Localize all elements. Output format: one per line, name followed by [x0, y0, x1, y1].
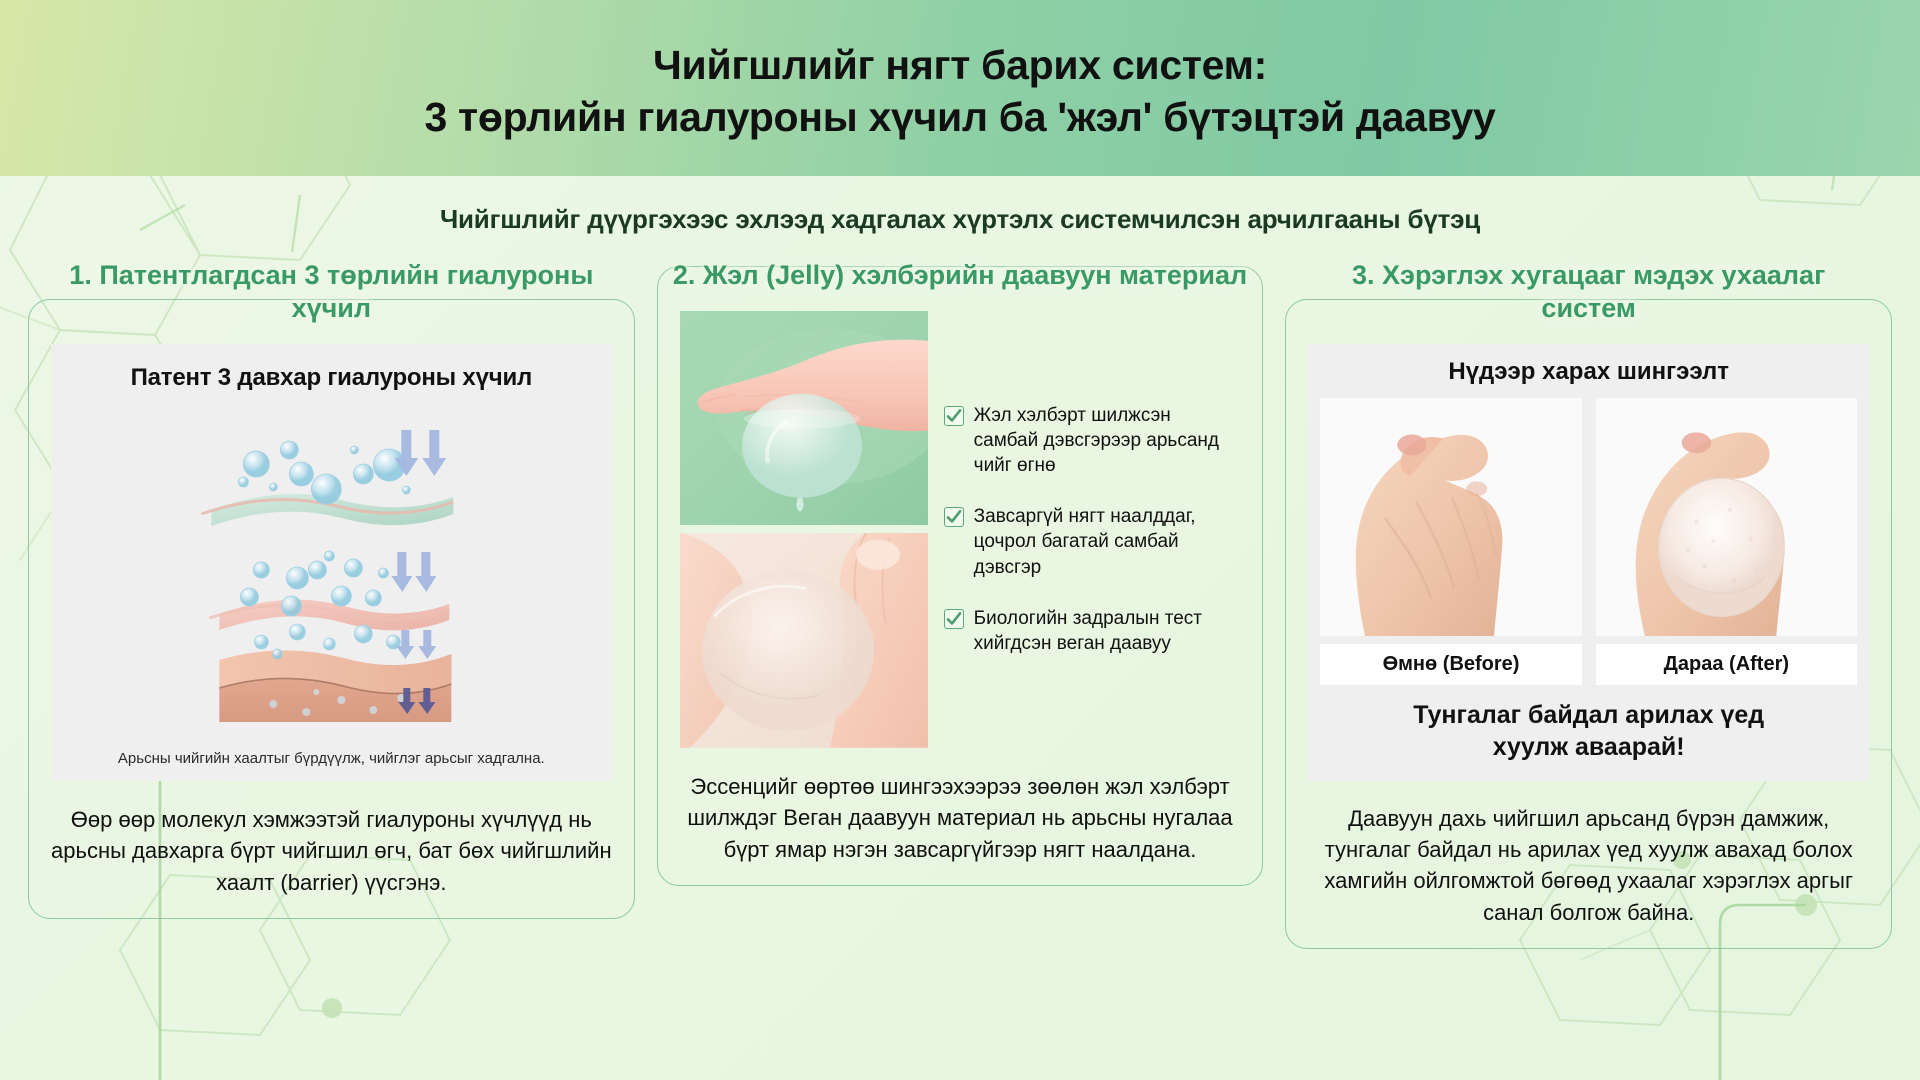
- jelly-blob-on-hand-photo: [680, 311, 928, 526]
- card-3: Нүдээр харах шингээлт: [1285, 299, 1892, 949]
- column-1-title: 1. Патентлагдсан 3 төрлийн гиалуроны хүч…: [28, 259, 635, 325]
- ha-diagram-title: Патент 3 давхар гиалуроны хүчил: [131, 364, 532, 392]
- checklist-item-label: Завсаргүй нягт наалддаг, цочрол багатай …: [974, 504, 1241, 579]
- header-title-line1: Чийгшлийг нягт барих систем:: [653, 39, 1267, 91]
- jelly-benefits-checklist: Жэл хэлбэрт шилжсэн самбай дэвсгэрээр ар…: [942, 311, 1241, 748]
- checklist-item-label: Жэл хэлбэрт шилжсэн самбай дэвсгэрээр ар…: [974, 403, 1241, 478]
- after-label: Дараа (After): [1596, 644, 1857, 685]
- before-after-labels: Өмнө (Before) Дараа (After): [1320, 644, 1857, 685]
- card-2-body: Жэл хэлбэрт шилжсэн самбай дэвсгэрээр ар…: [680, 311, 1241, 865]
- card-1-body: Патент 3 давхар гиалуроны хүчил: [51, 344, 612, 898]
- header-banner: Чийгшлийг нягт барих систем: 3 төрлийн г…: [0, 0, 1920, 176]
- card-3-body: Нүдээр харах шингээлт: [1308, 344, 1869, 928]
- absorption-title: Нүдээр харах шингээлт: [1320, 358, 1857, 386]
- card-2-description: Эссенцийг өөртөө шингээхээрээ зөөлөн жэл…: [680, 749, 1241, 865]
- check-icon: [944, 507, 964, 527]
- peel-off-notice-line2: хуулж аваарай!: [1320, 731, 1857, 764]
- column-2-title: 2. Жэл (Jelly) хэлбэрийн даавуун материа…: [657, 259, 1264, 292]
- jelly-media-and-checklist: Жэл хэлбэрт шилжсэн самбай дэвсгэрээр ар…: [680, 311, 1241, 748]
- checklist-item: Завсаргүй нягт наалддаг, цочрол багатай …: [944, 504, 1241, 579]
- column-2: 2. Жэл (Jelly) хэлбэрийн даавуун материа…: [657, 259, 1264, 886]
- jelly-photos: [680, 311, 928, 748]
- checklist-item: Жэл хэлбэрт шилжсэн самбай дэвсгэрээр ар…: [944, 403, 1241, 478]
- card-1-description: Өөр өөр молекул хэмжээтэй гиалуроны хүчл…: [51, 782, 612, 898]
- columns-container: 1. Патентлагдсан 3 төрлийн гиалуроны хүч…: [0, 245, 1920, 949]
- after-hand-photo: [1596, 398, 1857, 636]
- card-1: Патент 3 давхар гиалуроны хүчил: [28, 299, 635, 919]
- column-3-title: 3. Хэрэглэх хугацааг мэдэх ухаалаг систе…: [1285, 259, 1892, 325]
- page-subtitle: Чийгшлийг дүүргэхээс эхлээд хадгалах хүр…: [0, 204, 1920, 235]
- before-hand-photo: [1320, 398, 1581, 636]
- infographic-page: Чийгшлийг нягт барих систем: 3 төрлийн г…: [0, 0, 1920, 1080]
- checklist-item: Биологийн задралын тест хийгдсэн веган д…: [944, 606, 1241, 656]
- checklist-item-label: Биологийн задралын тест хийгдсэн веган д…: [974, 606, 1241, 656]
- jelly-sheet-on-skin-photo: [680, 533, 928, 748]
- ha-layers-illustration: [51, 392, 612, 722]
- column-3: 3. Хэрэглэх хугацааг мэдэх ухаалаг систе…: [1285, 259, 1892, 949]
- peel-off-notice-line1: Тунгалаг байдал арилах үед: [1320, 699, 1857, 732]
- header-title-line2: 3 төрлийн гиалуроны хүчил ба 'жэл' бүтэц…: [424, 91, 1495, 143]
- ha-diagram-caption: Арьсны чийгийн хаалтыг бүрдүүлж, чийглэг…: [51, 749, 612, 769]
- column-1: 1. Патентлагдсан 3 төрлийн гиалуроны хүч…: [28, 259, 635, 919]
- check-icon: [944, 609, 964, 629]
- peel-off-notice: Тунгалаг байдал арилах үед хуулж аваарай…: [1320, 699, 1857, 764]
- before-label: Өмнө (Before): [1320, 644, 1581, 685]
- card-2: Жэл хэлбэрт шилжсэн самбай дэвсгэрээр ар…: [657, 266, 1264, 886]
- subtitle-section: Чийгшлийг дүүргэхээс эхлээд хадгалах хүр…: [0, 176, 1920, 245]
- card-3-description: Даавуун дахь чийгшил арьсанд бүрэн дамжи…: [1308, 781, 1869, 928]
- before-after-images: [1320, 398, 1857, 636]
- absorption-demo: Нүдээр харах шингээлт: [1308, 344, 1869, 781]
- ha-layer-diagram: Патент 3 давхар гиалуроны хүчил: [51, 344, 612, 781]
- check-icon: [944, 406, 964, 426]
